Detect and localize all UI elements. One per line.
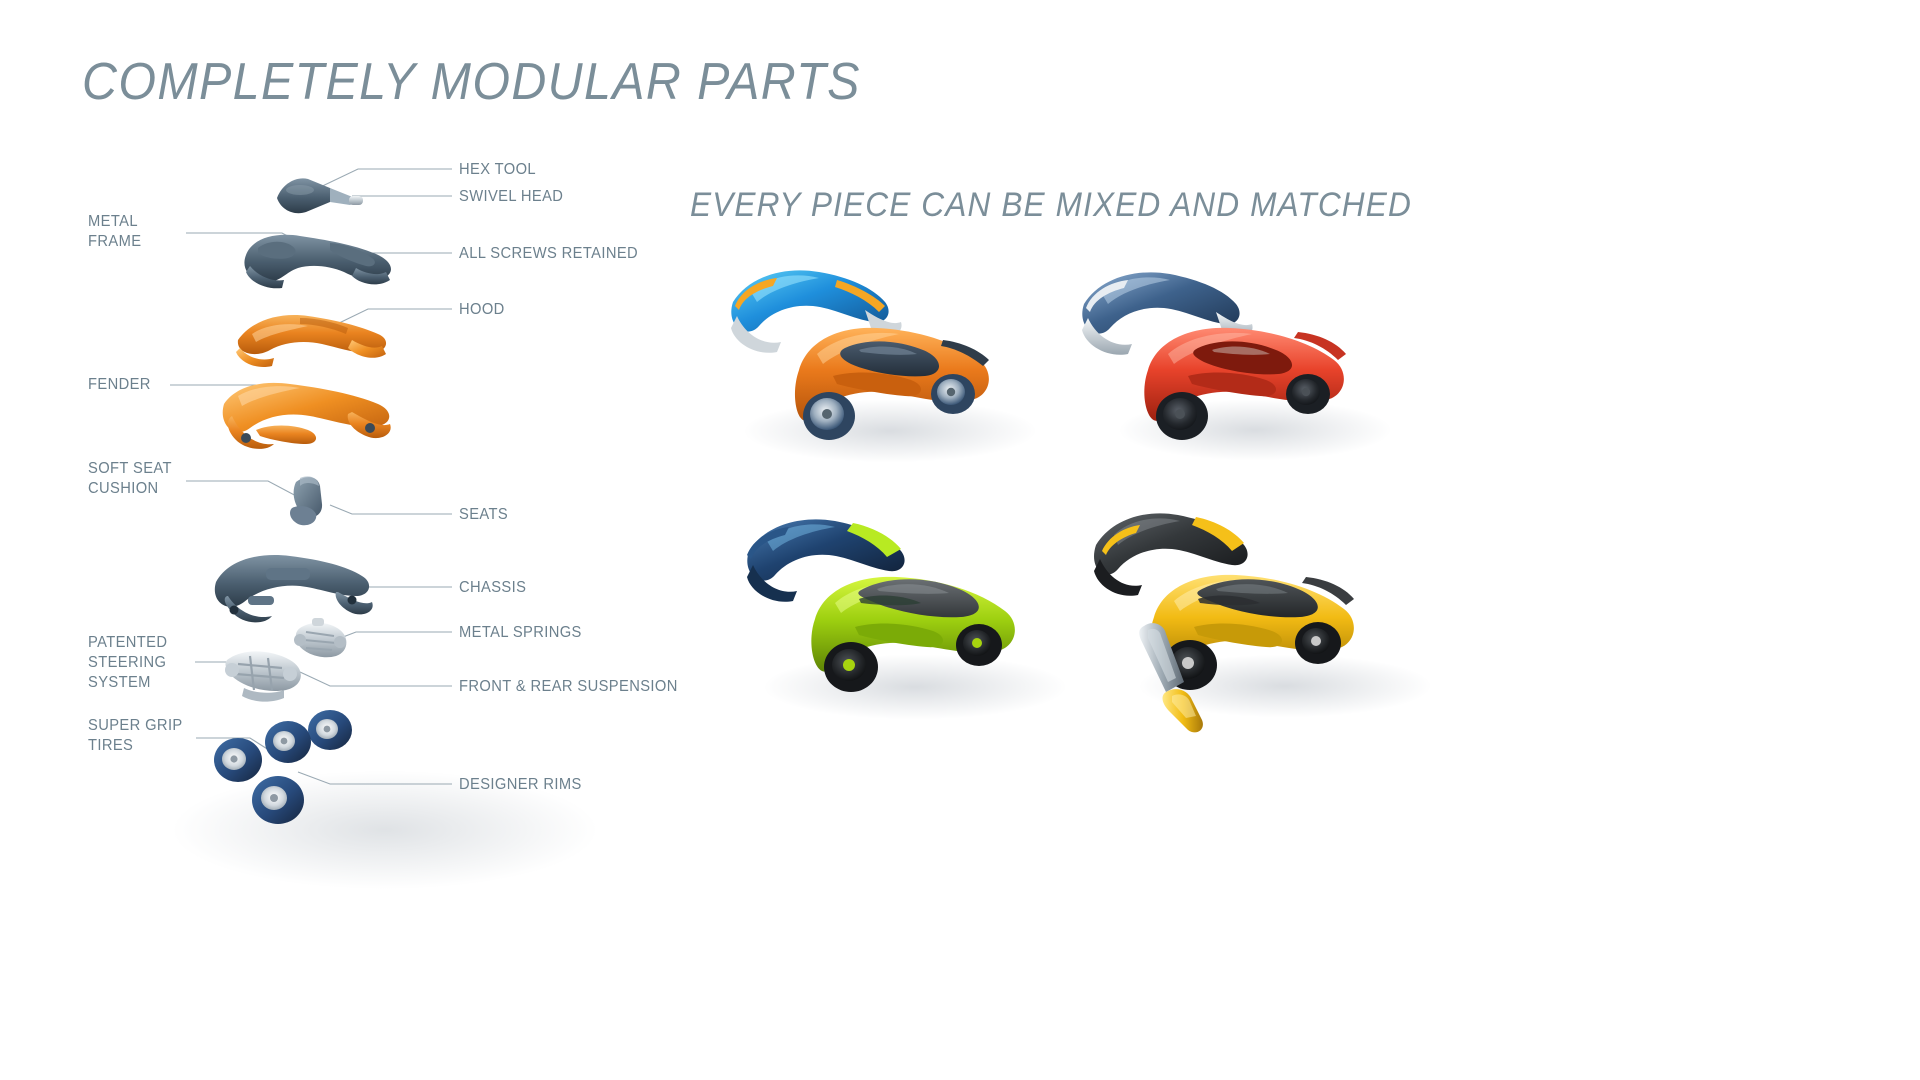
wheel xyxy=(824,642,878,692)
wheel xyxy=(1156,392,1208,440)
part-chassis xyxy=(215,555,373,622)
part-suspension xyxy=(225,651,301,701)
callout-metal-frame: METAL FRAME xyxy=(88,212,141,252)
part-metal-springs xyxy=(294,618,346,657)
callout-hex-tool: HEX TOOL xyxy=(459,160,536,180)
callout-hood: HOOD xyxy=(459,300,505,320)
callout-all-screws-retained: ALL SCREWS RETAINED xyxy=(459,244,638,264)
car-orange-illustration xyxy=(715,250,1045,470)
wheel xyxy=(956,624,1002,666)
part-hex-tool xyxy=(277,178,363,213)
callout-metal-springs: METAL SPRINGS xyxy=(459,623,582,643)
wheel xyxy=(931,374,975,414)
slide-root: COMPLETELY MODULAR PARTS EVERY PIECE CAN… xyxy=(0,0,1920,1080)
callout-seats: SEATS xyxy=(459,505,508,525)
car-orange-group xyxy=(715,250,1045,470)
part-hood xyxy=(236,315,386,367)
wheel xyxy=(803,392,855,440)
callout-swivel-head: SWIVEL HEAD xyxy=(459,187,563,207)
screwdriver-illustration xyxy=(1122,620,1232,735)
body-orange xyxy=(795,328,989,440)
exploded-parts-illustration xyxy=(0,0,700,900)
part-metal-frame xyxy=(244,235,391,289)
body-green xyxy=(811,577,1015,692)
car-green-group xyxy=(735,495,1065,725)
callout-chassis: CHASSIS xyxy=(459,578,526,598)
callout-patented-steering-system: PATENTED STEERING SYSTEM xyxy=(88,633,167,693)
car-green-illustration xyxy=(735,495,1065,725)
part-fender xyxy=(223,383,391,449)
section-subtitle: EVERY PIECE CAN BE MIXED AND MATCHED xyxy=(690,186,1412,225)
callout-front-rear-suspension: FRONT & REAR SUSPENSION xyxy=(459,677,678,697)
car-red-group xyxy=(1060,250,1390,470)
part-seat-cushion xyxy=(290,476,322,525)
part-tires xyxy=(214,710,352,824)
callout-fender: FENDER xyxy=(88,375,151,395)
callout-designer-rims: DESIGNER RIMS xyxy=(459,775,582,795)
car-red-illustration xyxy=(1060,250,1390,470)
body-red xyxy=(1144,328,1346,440)
wheel xyxy=(1295,622,1341,664)
wheel xyxy=(1286,374,1330,414)
callout-super-grip-tires: SUPER GRIP TIRES xyxy=(88,716,183,756)
callout-soft-seat-cushion: SOFT SEAT CUSHION xyxy=(88,459,172,499)
